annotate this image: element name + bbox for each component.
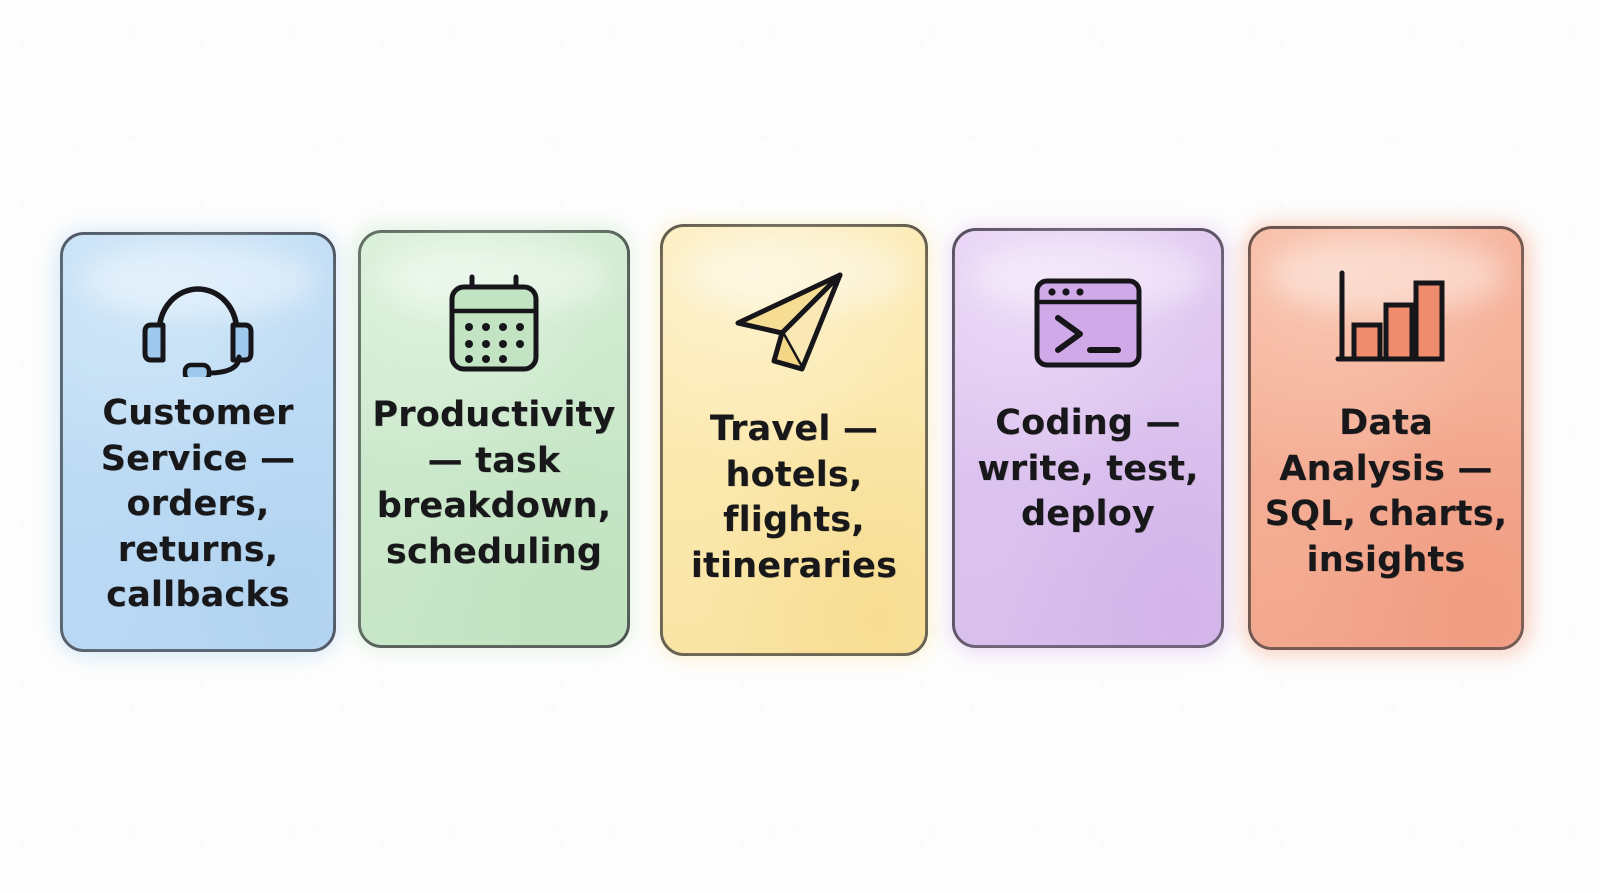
card-body: Productivity — task breakdown, schedulin… [361,233,627,645]
card-body: Travel — hotels, flights, itineraries [663,227,925,653]
card-body: Customer Service — orders, returns, call… [63,235,333,649]
paper-plane-icon [728,261,860,381]
bar-chart-icon [1326,265,1446,379]
card-customer-service[interactable]: Customer Service — orders, returns, call… [60,232,336,652]
card-body: Data Analysis — SQL, charts, insights [1251,229,1521,647]
card-label: Travel — hotels, flights, itineraries [681,407,907,589]
card-productivity[interactable]: Productivity — task breakdown, schedulin… [358,230,630,648]
card-label: Customer Service — orders, returns, call… [91,391,306,619]
headset-icon [139,277,257,377]
card-label: Productivity — task breakdown, schedulin… [362,393,625,575]
card-data-analysis[interactable]: Data Analysis — SQL, charts, insights [1248,226,1524,650]
card-body: Coding — write, test, deploy [955,231,1221,645]
card-travel[interactable]: Travel — hotels, flights, itineraries [660,224,928,656]
card-label: Data Analysis — SQL, charts, insights [1255,401,1518,583]
calendar-icon [442,273,546,377]
card-coding[interactable]: Coding — write, test, deploy [952,228,1224,648]
terminal-window-icon [1032,273,1144,375]
capability-card-board: Customer Service — orders, returns, call… [0,0,1600,893]
card-label: Coding — write, test, deploy [967,401,1208,538]
